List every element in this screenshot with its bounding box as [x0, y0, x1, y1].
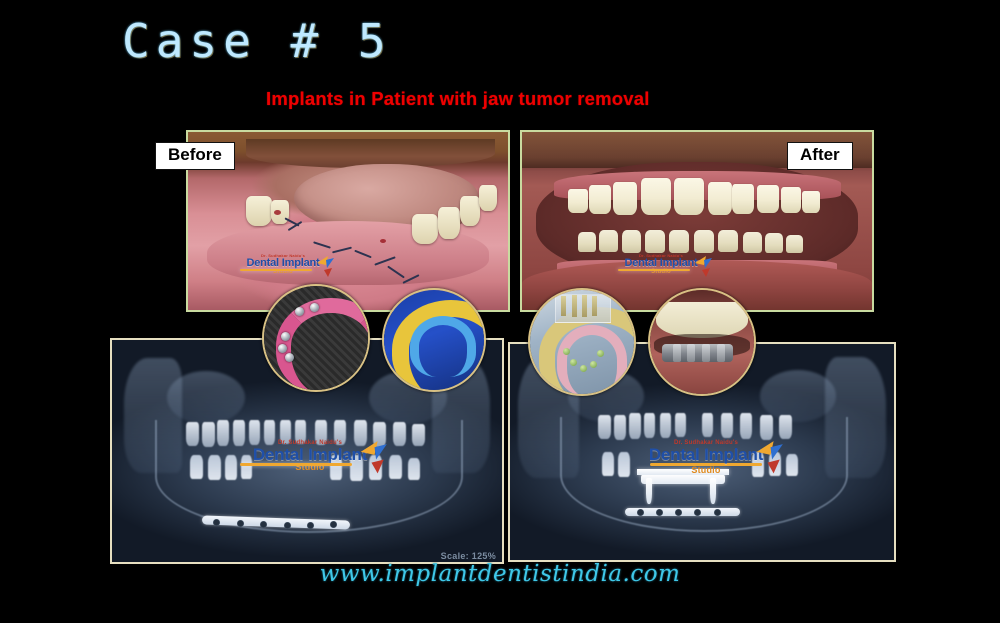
lower-tooth — [408, 458, 420, 480]
pink-model-canvas — [264, 286, 368, 390]
lower-crown — [765, 233, 783, 253]
dental-implant — [710, 478, 716, 504]
implant-position-marker — [597, 350, 604, 357]
plate-screw-hole — [237, 520, 244, 527]
cad-abutment — [582, 295, 587, 317]
upper-tooth — [629, 413, 641, 439]
plate-screw-hole — [637, 509, 644, 516]
lower-crown — [622, 230, 641, 253]
digital-scan-canvas — [384, 290, 484, 390]
tooth — [412, 214, 438, 244]
upper-tooth — [264, 420, 275, 445]
implant-analog — [278, 344, 287, 353]
upper-tooth — [702, 413, 713, 437]
upper-tooth — [334, 420, 346, 445]
lower-crown — [786, 235, 803, 253]
implant-position-marker — [570, 359, 577, 366]
lower-crown — [743, 232, 762, 253]
upper-tooth — [373, 422, 386, 447]
upper-tooth — [202, 422, 215, 447]
blood-spot — [380, 239, 386, 243]
maxillary-sinus-left — [167, 371, 245, 424]
radiograph-scale-note: Scale: 125% — [441, 551, 496, 561]
upper-crown — [641, 178, 671, 215]
cad-abutment — [592, 296, 597, 316]
upper-tooth — [217, 420, 229, 446]
intraoral-bar-canvas — [650, 290, 754, 394]
inset-pink-model — [262, 284, 370, 392]
inset-digital-scan — [382, 288, 486, 392]
lower-tooth — [618, 452, 630, 477]
tooth — [438, 207, 460, 239]
upper-crown — [589, 185, 611, 214]
upper-tooth — [249, 420, 260, 445]
cad-planning-canvas — [530, 290, 634, 394]
upper-tooth — [740, 413, 752, 439]
prosthetic-bar-lower — [637, 469, 729, 475]
upper-tooth — [644, 413, 655, 438]
upper-tooth — [614, 415, 626, 440]
lower-tooth — [369, 455, 382, 480]
lower-tooth — [389, 455, 402, 479]
upper-crown — [568, 189, 588, 213]
lower-tooth — [208, 455, 221, 480]
before-label: Before — [155, 142, 235, 170]
cad-abutment — [561, 296, 566, 316]
upper-tooth — [186, 422, 199, 446]
bar-segment — [702, 344, 710, 362]
lower-crown — [669, 230, 689, 253]
upper-crown — [781, 187, 801, 213]
upper-tooth — [779, 415, 792, 439]
bar-segment — [687, 344, 695, 362]
lower-crown — [599, 230, 618, 252]
upper-tooth — [760, 415, 773, 440]
implant-analog — [310, 303, 319, 312]
denture-arch — [276, 298, 370, 392]
upper-crown — [708, 182, 732, 215]
lower-crown — [694, 230, 714, 253]
plate-screw-hole — [307, 522, 314, 529]
bar-segment — [673, 344, 681, 362]
upper-tooth — [233, 420, 245, 446]
cad-abutment — [572, 295, 577, 317]
upper-tooth — [354, 420, 367, 446]
case-presentation-slide: Case # 5 Implants in Patient with jaw tu… — [0, 0, 1000, 623]
lower-tooth — [752, 452, 764, 477]
upper-tooth — [412, 424, 425, 446]
upper-tooth — [393, 422, 406, 446]
upper-tooth — [295, 420, 306, 444]
upper-tooth — [721, 413, 733, 438]
lower-tooth — [786, 454, 798, 476]
upper-tooth — [675, 413, 686, 437]
lower-tooth — [602, 452, 614, 476]
dental-implant — [646, 478, 652, 504]
inset-cad-planning — [528, 288, 636, 396]
website-url[interactable]: www.implantdentistindia.com — [0, 561, 1000, 587]
lower-tooth — [225, 455, 237, 480]
upper-crown — [757, 185, 779, 213]
implant-analog — [285, 353, 294, 362]
upper-prosthesis — [656, 302, 748, 337]
tooth — [246, 196, 272, 226]
implant-analog — [295, 307, 304, 316]
maxillary-sinus-right — [760, 370, 837, 422]
after-label: After — [787, 142, 853, 170]
upper-crown — [613, 182, 637, 215]
lower-tooth — [330, 455, 342, 480]
plate-screw-hole — [284, 522, 291, 529]
tooth — [460, 196, 480, 226]
implant-position-marker — [580, 365, 587, 372]
implant-position-marker — [590, 361, 597, 368]
upper-tooth — [660, 413, 671, 438]
upper-crown — [674, 178, 704, 215]
tooth — [479, 185, 497, 211]
lower-tooth — [769, 452, 781, 476]
lower-crown — [718, 230, 738, 252]
upper-crown — [802, 191, 820, 213]
plate-screw-hole — [714, 509, 721, 516]
lower-crown — [578, 232, 596, 252]
implant-analog — [281, 332, 290, 341]
page-subtitle: Implants in Patient with jaw tumor remov… — [266, 88, 650, 110]
upper-crown — [732, 184, 754, 214]
inset-intraoral-bar — [648, 288, 756, 396]
upper-tooth — [598, 415, 611, 439]
lower-tooth — [241, 455, 252, 479]
blue-overlay-scan — [410, 316, 476, 377]
page-title: Case # 5 — [122, 14, 392, 68]
upper-tooth — [315, 420, 327, 445]
lower-tooth — [190, 455, 203, 479]
before-photo-canvas: Dr. Sudhakar Naidu's Dental Implant Stud… — [188, 132, 508, 310]
bar-segment — [717, 344, 725, 362]
upper-tooth — [280, 420, 291, 444]
lower-tooth — [350, 455, 363, 481]
lower-crown — [645, 230, 665, 253]
